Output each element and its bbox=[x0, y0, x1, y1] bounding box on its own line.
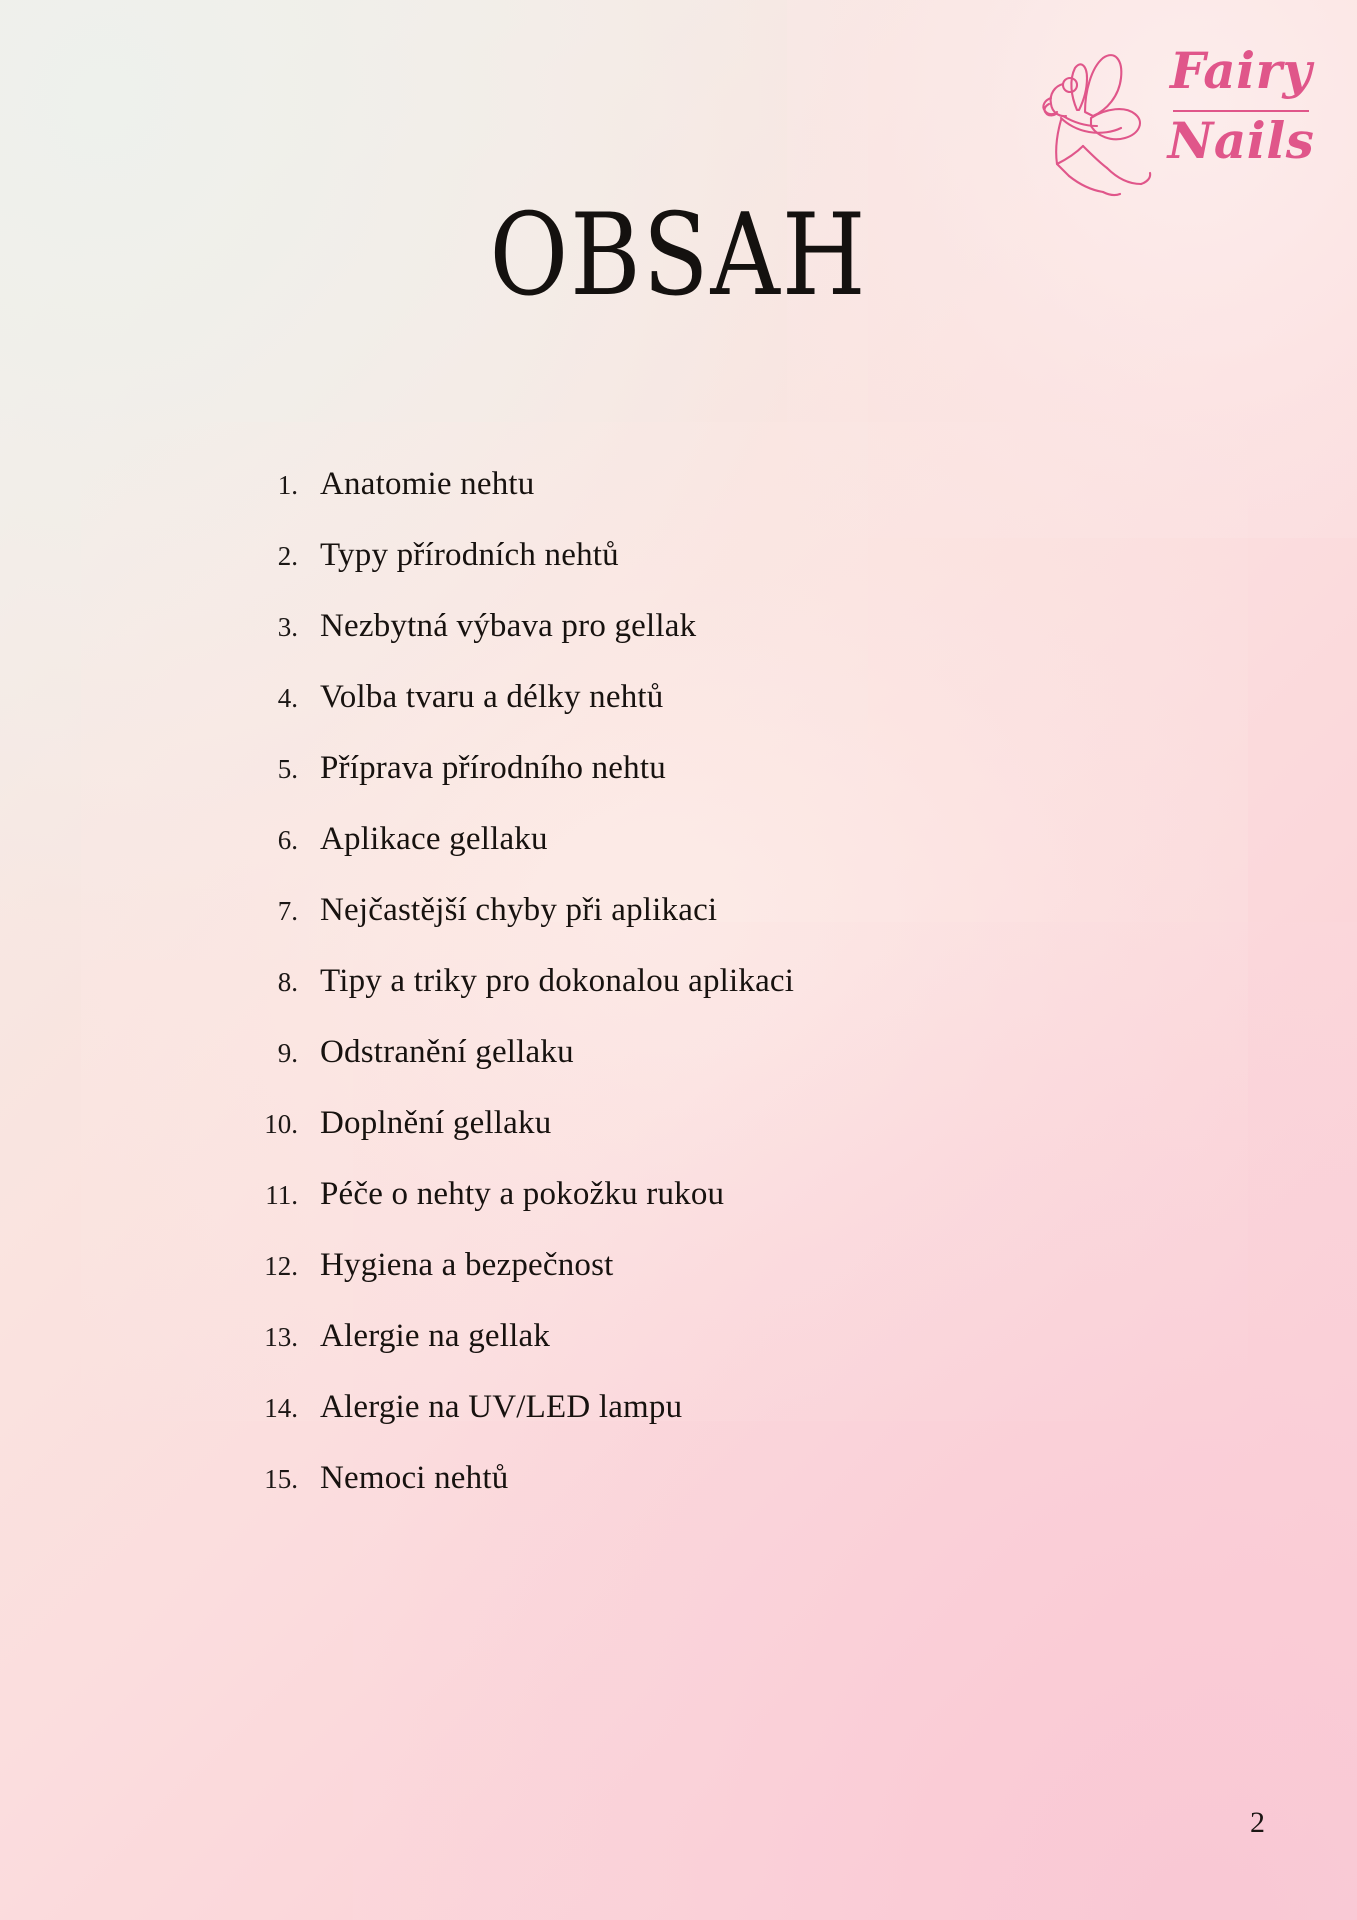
toc-item-label: Péče o nehty a pokožku rukou bbox=[320, 1176, 724, 1213]
brand-word-nails: Nails bbox=[1161, 116, 1321, 166]
toc-item-label: Hygiena a bezpečnost bbox=[320, 1247, 614, 1284]
toc-item[interactable]: 7. Nejčastější chyby při aplikaci bbox=[250, 892, 1110, 963]
fairy-silhouette-icon bbox=[1021, 38, 1161, 198]
toc-item-number: 9. bbox=[250, 1038, 320, 1069]
toc-item-number: 1. bbox=[250, 470, 320, 501]
document-page: Fairy Nails OBSAH 1. Anatomie nehtu 2. T… bbox=[0, 0, 1357, 1920]
toc-item[interactable]: 12. Hygiena a bezpečnost bbox=[250, 1247, 1110, 1318]
toc-item-label: Odstranění gellaku bbox=[320, 1034, 574, 1071]
toc-item[interactable]: 13. Alergie na gellak bbox=[250, 1318, 1110, 1389]
toc-item[interactable]: 15. Nemoci nehtů bbox=[250, 1460, 1110, 1531]
toc-item-number: 5. bbox=[250, 754, 320, 785]
page-number: 2 bbox=[1250, 1806, 1265, 1840]
toc-item-label: Tipy a triky pro dokonalou aplikaci bbox=[320, 963, 794, 1000]
toc-item[interactable]: 1. Anatomie nehtu bbox=[250, 466, 1110, 537]
table-of-contents: 1. Anatomie nehtu 2. Typy přírodních neh… bbox=[250, 466, 1110, 1531]
toc-item-number: 4. bbox=[250, 683, 320, 714]
toc-item-label: Volba tvaru a délky nehtů bbox=[320, 679, 663, 716]
toc-item-label: Nemoci nehtů bbox=[320, 1460, 508, 1497]
page-title: OBSAH bbox=[0, 196, 1357, 315]
toc-item-number: 3. bbox=[250, 612, 320, 643]
toc-item-label: Alergie na gellak bbox=[320, 1318, 550, 1355]
toc-item-number: 10. bbox=[250, 1109, 320, 1140]
toc-item[interactable]: 5. Příprava přírodního nehtu bbox=[250, 750, 1110, 821]
toc-item-label: Anatomie nehtu bbox=[320, 466, 535, 503]
toc-item-label: Doplnění gellaku bbox=[320, 1105, 551, 1142]
brand-wordmark: Fairy Nails bbox=[1161, 40, 1321, 196]
toc-item-label: Nezbytná výbava pro gellak bbox=[320, 608, 696, 645]
toc-item[interactable]: 2. Typy přírodních nehtů bbox=[250, 537, 1110, 608]
brand-logo: Fairy Nails bbox=[1021, 34, 1321, 202]
toc-item[interactable]: 14. Alergie na UV/LED lampu bbox=[250, 1389, 1110, 1460]
toc-item-label: Typy přírodních nehtů bbox=[320, 537, 619, 574]
toc-item[interactable]: 10. Doplnění gellaku bbox=[250, 1105, 1110, 1176]
toc-item-number: 15. bbox=[250, 1464, 320, 1495]
toc-item-label: Aplikace gellaku bbox=[320, 821, 548, 858]
brand-word-fairy: Fairy bbox=[1161, 46, 1321, 96]
toc-item[interactable]: 8. Tipy a triky pro dokonalou aplikaci bbox=[250, 963, 1110, 1034]
toc-item-number: 11. bbox=[250, 1180, 320, 1211]
toc-item-label: Nejčastější chyby při aplikaci bbox=[320, 892, 717, 929]
toc-item-label: Příprava přírodního nehtu bbox=[320, 750, 666, 787]
toc-item-label: Alergie na UV/LED lampu bbox=[320, 1389, 682, 1426]
toc-item[interactable]: 3. Nezbytná výbava pro gellak bbox=[250, 608, 1110, 679]
toc-item[interactable]: 9. Odstranění gellaku bbox=[250, 1034, 1110, 1105]
toc-item[interactable]: 6. Aplikace gellaku bbox=[250, 821, 1110, 892]
toc-item-number: 7. bbox=[250, 896, 320, 927]
toc-item-number: 12. bbox=[250, 1251, 320, 1282]
toc-item[interactable]: 11. Péče o nehty a pokožku rukou bbox=[250, 1176, 1110, 1247]
toc-item[interactable]: 4. Volba tvaru a délky nehtů bbox=[250, 679, 1110, 750]
toc-item-number: 13. bbox=[250, 1322, 320, 1353]
toc-item-number: 6. bbox=[250, 825, 320, 856]
toc-item-number: 2. bbox=[250, 541, 320, 572]
toc-item-number: 14. bbox=[250, 1393, 320, 1424]
toc-item-number: 8. bbox=[250, 967, 320, 998]
